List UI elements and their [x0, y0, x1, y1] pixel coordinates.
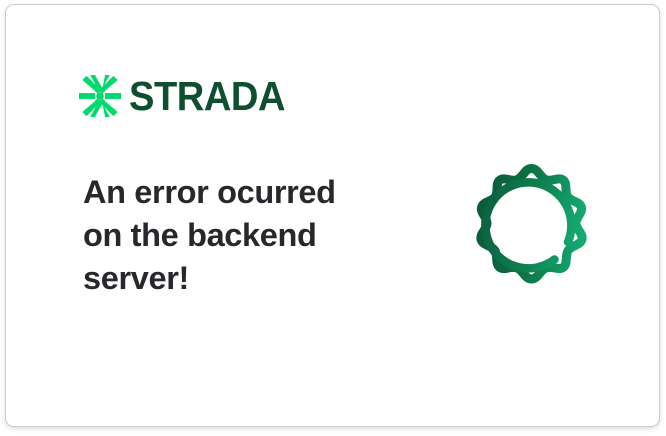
error-message: An error ocurred on the backend server!	[83, 171, 383, 300]
brand-logo: STRADA	[79, 73, 297, 119]
strada-asterisk-icon	[79, 75, 121, 117]
gear-spinner-icon	[450, 143, 613, 303]
error-card: STRADA An error ocurred on the backend s…	[5, 4, 660, 427]
brand-wordmark: STRADA	[129, 76, 285, 117]
error-page: STRADA An error ocurred on the backend s…	[0, 0, 666, 436]
